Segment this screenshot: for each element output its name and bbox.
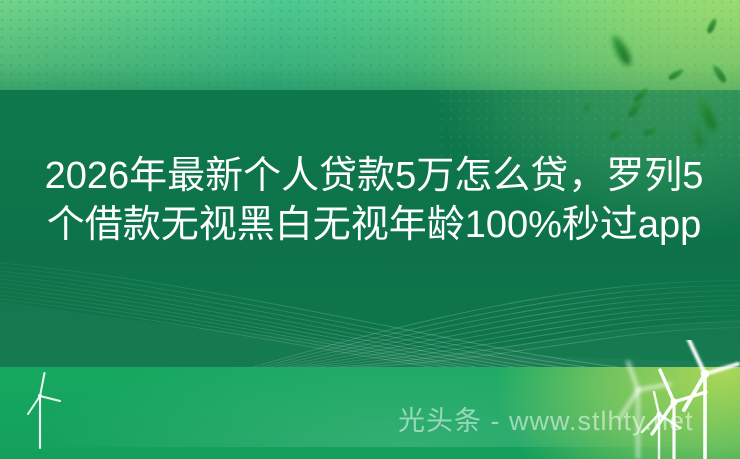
page-title: 2026年最新个人贷款5万怎么贷，罗列5个借款无视黑白无视年龄100%秒过app [34,152,714,250]
poster-image: 2026年最新个人贷款5万怎么贷，罗列5个借款无视黑白无视年龄100%秒过app… [0,0,740,459]
watermark-text: 光头条 - www.stlhty.net [398,404,694,438]
upper-right-dot-pattern [440,90,740,160]
wind-turbine-left [22,370,70,450]
wind-turbine-group-right [612,340,740,459]
